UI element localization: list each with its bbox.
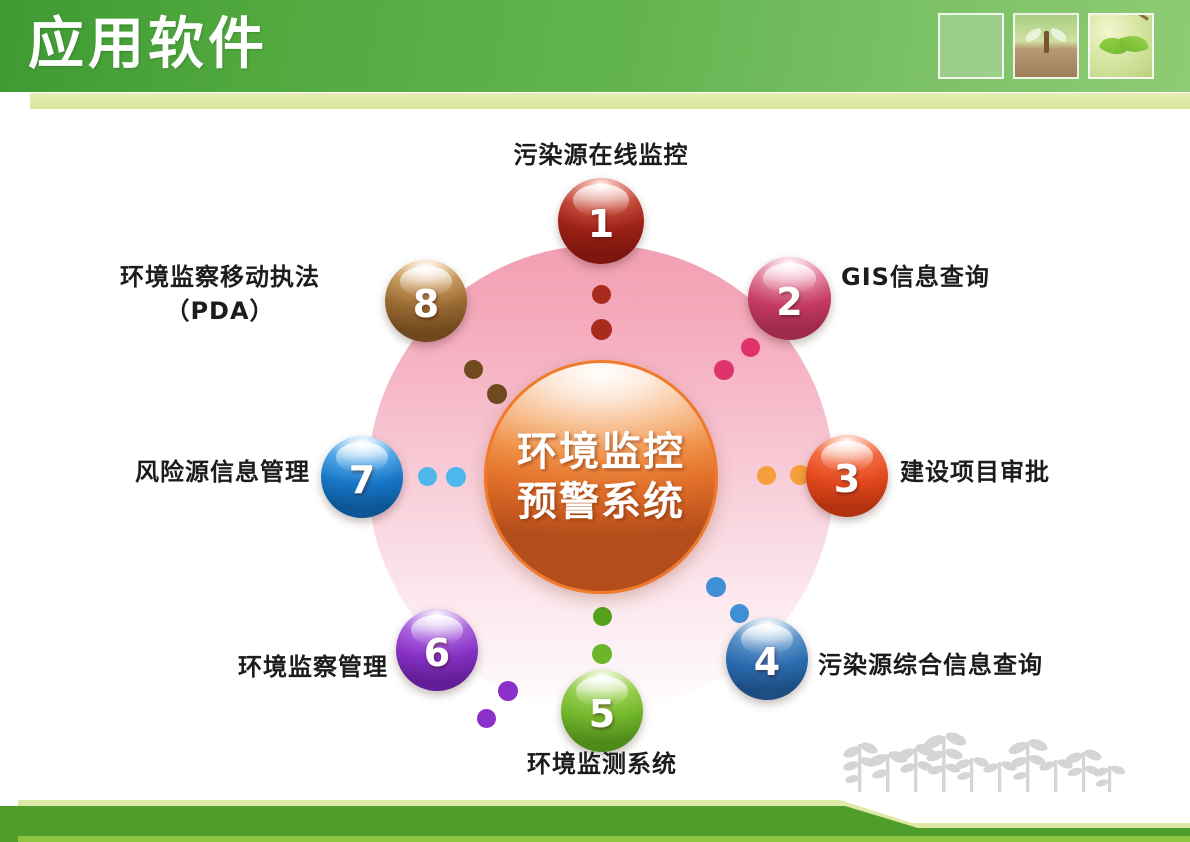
connector-dot-7a — [418, 467, 437, 486]
connector-dot-4b — [730, 604, 749, 623]
connector-dot-6b — [477, 709, 496, 728]
diagram-stage: 环境监控 预警系统 1 污染源在线监控 2 GIS信息查询 3 建设项目审批 4… — [0, 110, 1190, 780]
node-2-label: GIS信息查询 — [841, 260, 990, 294]
connector-dot-2b — [714, 360, 734, 380]
header-accent-band — [30, 93, 1190, 109]
sprout-leaf-right-icon — [1049, 27, 1068, 42]
node-1[interactable]: 1 — [558, 178, 644, 264]
node-3[interactable]: 3 — [806, 435, 888, 517]
center-node-line1: 环境监控 — [517, 427, 685, 477]
connector-dot-1a — [592, 285, 611, 304]
sprout-thumbnail — [1013, 13, 1079, 79]
connector-dot-8b — [487, 384, 507, 404]
blank-thumbnail — [938, 13, 1004, 79]
footer-band — [0, 760, 1190, 842]
node-4[interactable]: 4 — [726, 618, 808, 700]
node-5[interactable]: 5 — [561, 670, 643, 752]
node-1-number: 1 — [588, 205, 614, 243]
page-header: 应用软件 — [0, 0, 1190, 92]
node-7[interactable]: 7 — [321, 436, 403, 518]
connector-dot-1b — [591, 319, 612, 340]
node-3-number: 3 — [834, 460, 860, 498]
node-4-number: 4 — [754, 643, 780, 681]
node-6-number: 6 — [424, 634, 450, 672]
node-2[interactable]: 2 — [748, 257, 831, 340]
center-node-line2: 预警系统 — [517, 477, 685, 527]
page-title: 应用软件 — [28, 9, 268, 81]
connector-dot-4a — [706, 577, 726, 597]
node-5-number: 5 — [589, 695, 615, 733]
connector-dot-2a — [741, 338, 760, 357]
connector-dot-7b — [446, 467, 466, 487]
connector-dot-8a — [464, 360, 483, 379]
leaf-thumbnail — [1088, 13, 1154, 79]
node-1-label: 污染源在线监控 — [440, 138, 762, 172]
node-8-label-line2: （PDA） — [75, 294, 365, 328]
node-7-number: 7 — [349, 461, 375, 499]
connector-dot-5a — [593, 607, 612, 626]
branch-icon — [1112, 13, 1149, 21]
node-6-label: 环境监察管理 — [100, 650, 388, 684]
sprout-leaf-left-icon — [1024, 27, 1043, 42]
connector-dot-3b — [757, 466, 776, 485]
connector-dot-5b — [592, 644, 612, 664]
node-6[interactable]: 6 — [396, 609, 478, 691]
header-notch — [0, 78, 1190, 92]
node-8-label-line1: 环境监察移动执法 — [75, 260, 365, 294]
node-3-label: 建设项目审批 — [900, 455, 1050, 489]
node-8-label: 环境监察移动执法 （PDA） — [75, 260, 365, 328]
header-thumbnail-strip — [938, 13, 1154, 79]
node-7-label: 风险源信息管理 — [25, 455, 310, 489]
connector-dot-6a — [498, 681, 518, 701]
node-8[interactable]: 8 — [385, 260, 467, 342]
center-node[interactable]: 环境监控 预警系统 — [484, 360, 718, 594]
node-4-label: 污染源综合信息查询 — [818, 648, 1043, 682]
node-2-number: 2 — [776, 283, 802, 321]
node-8-number: 8 — [413, 285, 439, 323]
